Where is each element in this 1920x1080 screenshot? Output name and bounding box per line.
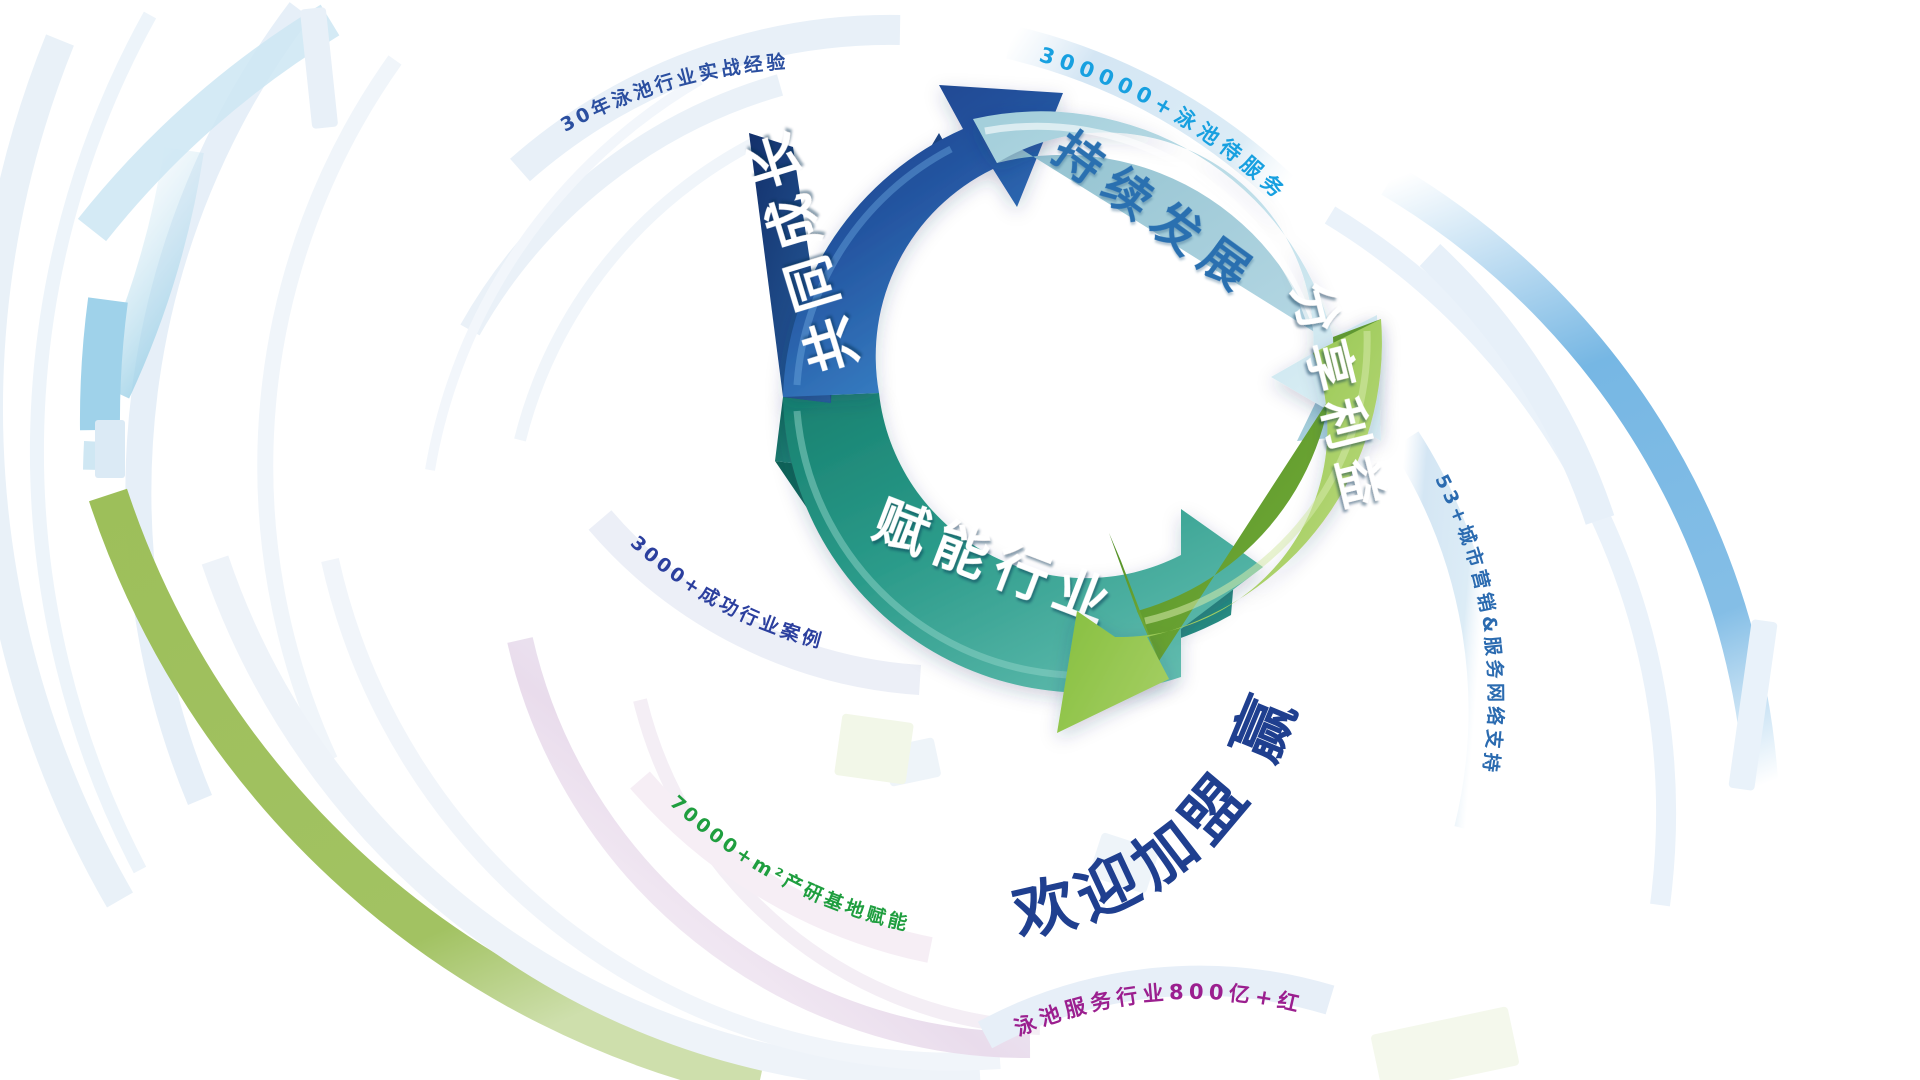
stat-base: 70000+m²产研基地赋能 [666,791,913,935]
poster-canvas: 赋能行业 共同成长 持续发展 [0,0,1920,1080]
cycle-segment-empower[interactable]: 赋能行业 [775,393,1263,693]
cycle-segment-share[interactable]: 分享利益 [1057,276,1396,733]
